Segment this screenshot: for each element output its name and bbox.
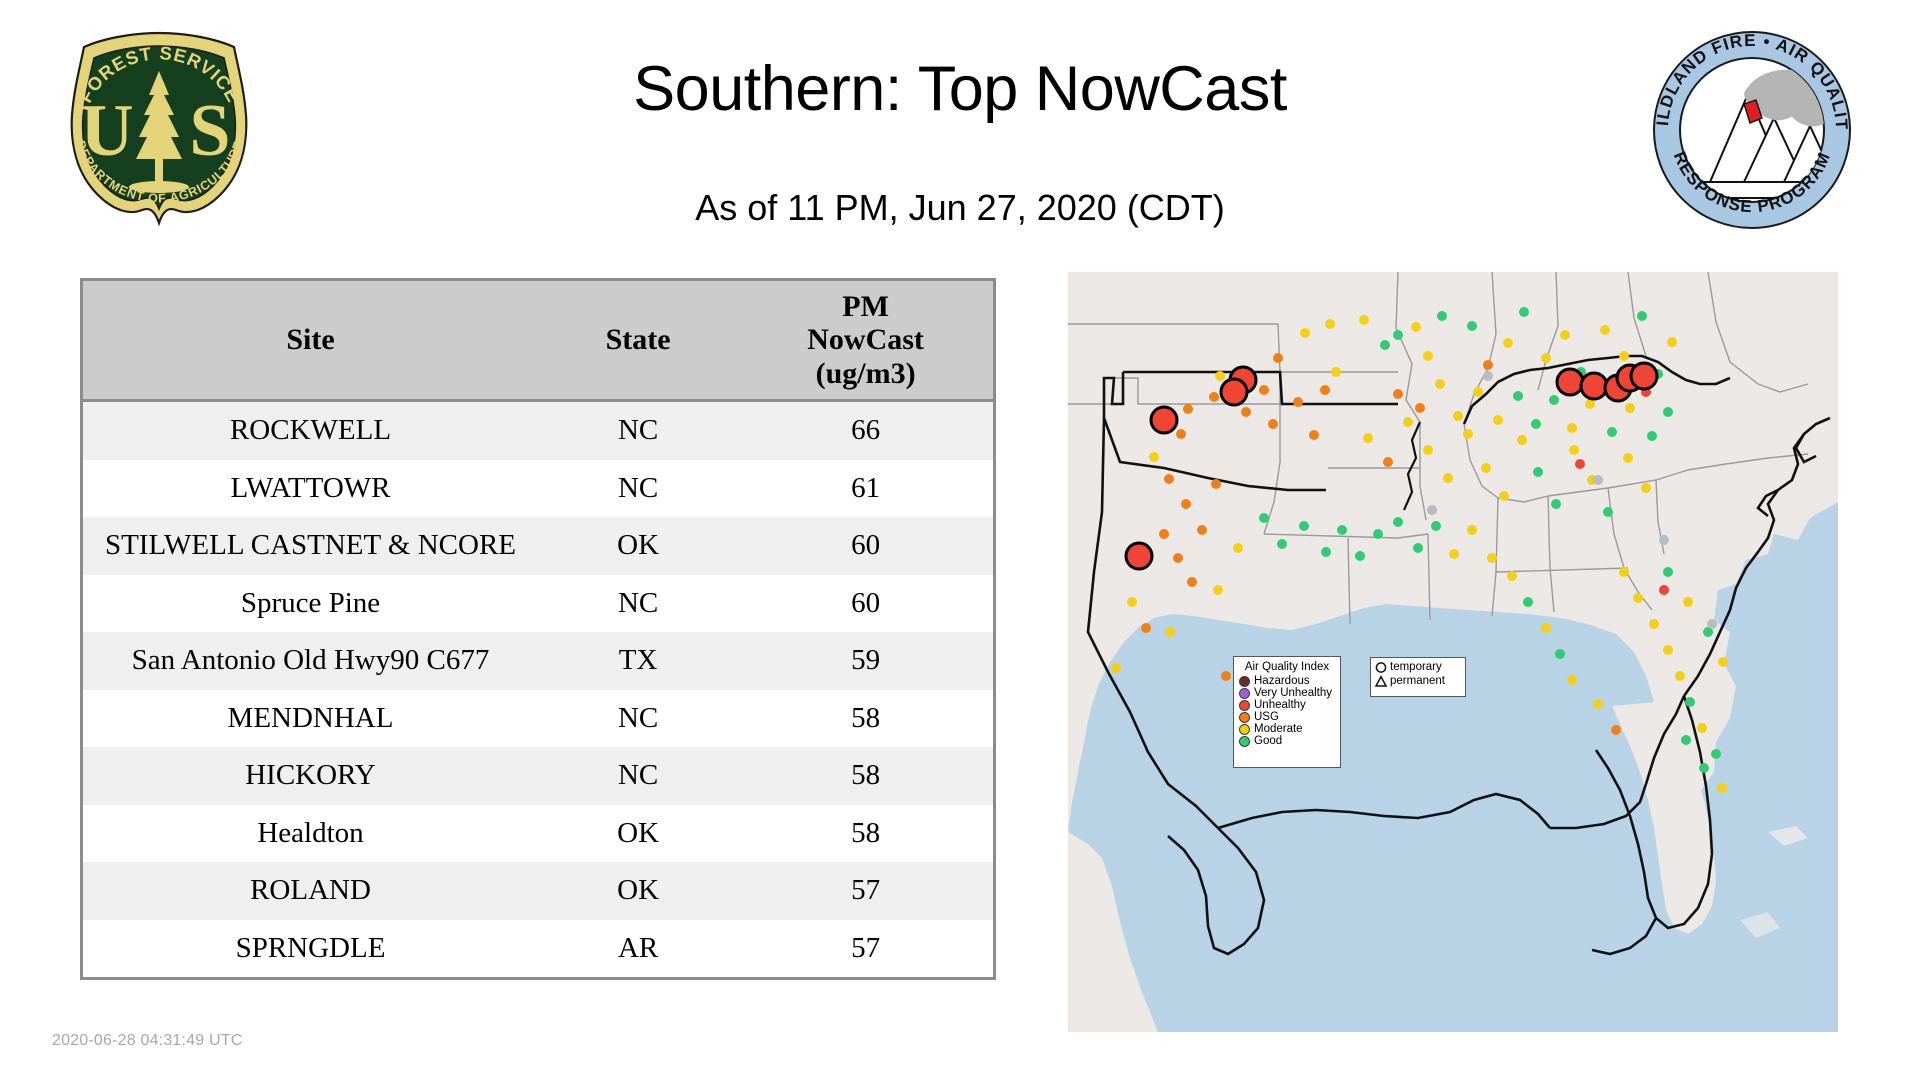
monitor-dot[interactable] bbox=[1641, 483, 1651, 493]
aqi-legend-item: USG bbox=[1239, 712, 1335, 724]
aqi-legend-item: Hazardous bbox=[1239, 676, 1335, 688]
monitor-dot[interactable] bbox=[1463, 429, 1473, 439]
monitor-dot[interactable] bbox=[1607, 427, 1617, 437]
monitor-dot[interactable] bbox=[1707, 619, 1717, 629]
site-cell: HICKORY bbox=[83, 747, 538, 805]
state-cell: OK bbox=[538, 517, 738, 575]
monitor-dot[interactable] bbox=[1403, 417, 1413, 427]
pm-header-line-1: PM bbox=[738, 290, 993, 324]
monitor-dot[interactable] bbox=[1517, 435, 1527, 445]
monitor-dot[interactable] bbox=[1355, 551, 1365, 561]
monitor-dot[interactable] bbox=[1165, 627, 1175, 637]
monitor-dot[interactable] bbox=[1373, 529, 1383, 539]
monitor-dot[interactable] bbox=[1513, 391, 1523, 401]
site-cell: STILWELL CASTNET & NCORE bbox=[83, 517, 538, 575]
monitor-dot[interactable] bbox=[1637, 311, 1647, 321]
monitor-dot[interactable] bbox=[1209, 392, 1219, 402]
monitor-dot[interactable] bbox=[1393, 330, 1403, 340]
monitor-dot[interactable] bbox=[1268, 419, 1278, 429]
site-cell: Healdton bbox=[83, 805, 538, 863]
table-row: STILWELL CASTNET & NCOREOK60 bbox=[83, 517, 993, 575]
top-site-marker[interactable] bbox=[1631, 363, 1657, 389]
monitor-dot[interactable] bbox=[1453, 411, 1463, 421]
site-cell: MENDNHAL bbox=[83, 690, 538, 748]
monitor-dot[interactable] bbox=[1423, 445, 1433, 455]
monitor-dot[interactable] bbox=[1487, 553, 1497, 563]
monitor-dot[interactable] bbox=[1359, 315, 1369, 325]
monitor-dot[interactable] bbox=[1717, 783, 1727, 793]
monitor-dot[interactable] bbox=[1413, 543, 1423, 553]
monitor-dot[interactable] bbox=[1299, 521, 1309, 531]
aqi-legend-item: Moderate bbox=[1239, 724, 1335, 736]
monitor-dot[interactable] bbox=[1173, 553, 1183, 563]
top-site-marker[interactable] bbox=[1581, 373, 1607, 399]
monitor-dot[interactable] bbox=[1393, 517, 1403, 527]
monitor-dot[interactable] bbox=[1499, 491, 1509, 501]
state-cell: TX bbox=[538, 632, 738, 690]
monitor-dot[interactable] bbox=[1383, 457, 1393, 467]
monitor-dot[interactable] bbox=[1211, 479, 1221, 489]
monitor-dot[interactable] bbox=[1325, 319, 1335, 329]
monitor-dot[interactable] bbox=[1467, 321, 1477, 331]
aqi-legend-label: Unhealthy bbox=[1254, 700, 1306, 712]
column-header-site: Site bbox=[83, 281, 538, 401]
monitor-dot[interactable] bbox=[1663, 645, 1673, 655]
state-cell: NC bbox=[538, 401, 738, 460]
monitor-dot[interactable] bbox=[1647, 431, 1657, 441]
aqi-color-swatch bbox=[1239, 736, 1250, 747]
monitor-dot[interactable] bbox=[1619, 567, 1629, 577]
monitor-dot[interactable] bbox=[1611, 725, 1621, 735]
monitor-dot[interactable] bbox=[1560, 330, 1570, 340]
state-cell: OK bbox=[538, 805, 738, 863]
aqi-color-swatch bbox=[1239, 712, 1250, 723]
monitor-dot[interactable] bbox=[1619, 351, 1629, 361]
site-cell: ROCKWELL bbox=[83, 401, 538, 460]
monitor-dot[interactable] bbox=[1663, 567, 1673, 577]
site-cell: ROLAND bbox=[83, 862, 538, 920]
monitor-dot[interactable] bbox=[1415, 403, 1425, 413]
aqi-legend-label: Good bbox=[1254, 736, 1282, 748]
monitor-dot[interactable] bbox=[1625, 403, 1635, 413]
aqi-legend-label: USG bbox=[1254, 712, 1279, 724]
monitor-dot[interactable] bbox=[1697, 723, 1707, 733]
pm-cell: 66 bbox=[738, 401, 993, 460]
monitor-dot[interactable] bbox=[1699, 763, 1709, 773]
monitor-dot[interactable] bbox=[1575, 459, 1585, 469]
monitor-dot[interactable] bbox=[1585, 399, 1595, 409]
aqi-legend: Air Quality Index HazardousVery Unhealth… bbox=[1233, 656, 1341, 768]
monitor-dot[interactable] bbox=[1321, 547, 1331, 557]
monitor-dot[interactable] bbox=[1215, 371, 1225, 381]
column-header-pm-nowcast: PM NowCast (ug/m3) bbox=[738, 281, 993, 401]
monitor-dot[interactable] bbox=[1111, 663, 1121, 673]
monitor-dot[interactable] bbox=[1541, 623, 1551, 633]
monitor-dot[interactable] bbox=[1141, 623, 1151, 633]
monitor-dot[interactable] bbox=[1293, 397, 1303, 407]
pm-cell: 58 bbox=[738, 747, 993, 805]
top-site-marker[interactable] bbox=[1151, 407, 1177, 433]
site-cell: LWATTOWR bbox=[83, 460, 538, 518]
state-cell: NC bbox=[538, 575, 738, 633]
table-row: MENDNHALNC58 bbox=[83, 690, 993, 748]
pm-cell: 58 bbox=[738, 805, 993, 863]
monitor-dot[interactable] bbox=[1483, 371, 1493, 381]
pm-cell: 61 bbox=[738, 460, 993, 518]
site-type-temporary: temporary bbox=[1375, 661, 1461, 674]
monitor-dot[interactable] bbox=[1549, 395, 1559, 405]
aqi-color-swatch bbox=[1239, 724, 1250, 735]
monitor-dot[interactable] bbox=[1164, 474, 1174, 484]
pm-header-line-2: NowCast bbox=[738, 323, 993, 357]
monitor-dot[interactable] bbox=[1600, 325, 1610, 335]
site-type-permanent-label: permanent bbox=[1390, 676, 1445, 688]
monitor-dot[interactable] bbox=[1523, 597, 1533, 607]
monitor-dot[interactable] bbox=[1531, 419, 1541, 429]
monitor-dot[interactable] bbox=[1273, 353, 1283, 363]
monitor-dot[interactable] bbox=[1623, 453, 1633, 463]
monitor-dot[interactable] bbox=[1300, 328, 1310, 338]
triangle-icon bbox=[1375, 675, 1387, 688]
monitor-dot[interactable] bbox=[1685, 697, 1695, 707]
top-site-marker[interactable] bbox=[1221, 379, 1247, 405]
monitor-dot[interactable] bbox=[1363, 433, 1373, 443]
pm-cell: 58 bbox=[738, 690, 993, 748]
monitor-dot[interactable] bbox=[1393, 389, 1403, 399]
monitor-dot[interactable] bbox=[1675, 671, 1685, 681]
monitor-dot[interactable] bbox=[1320, 385, 1330, 395]
monitor-dot[interactable] bbox=[1443, 473, 1453, 483]
monitor-dot[interactable] bbox=[1649, 619, 1659, 629]
monitor-dot[interactable] bbox=[1718, 657, 1728, 667]
monitor-dot[interactable] bbox=[1437, 311, 1447, 321]
table-row: Spruce PineNC60 bbox=[83, 575, 993, 633]
monitor-dot[interactable] bbox=[1593, 475, 1603, 485]
aqi-color-swatch bbox=[1239, 688, 1250, 699]
monitor-dot[interactable] bbox=[1241, 407, 1251, 417]
monitor-dot[interactable] bbox=[1183, 404, 1193, 414]
pm-cell: 57 bbox=[738, 920, 993, 978]
monitor-dot[interactable] bbox=[1519, 307, 1529, 317]
monitor-dot[interactable] bbox=[1380, 340, 1390, 350]
monitor-dot[interactable] bbox=[1423, 351, 1433, 361]
monitor-dot[interactable] bbox=[1711, 749, 1721, 759]
monitor-dot[interactable] bbox=[1493, 415, 1503, 425]
monitor-dot[interactable] bbox=[1567, 675, 1577, 685]
air-quality-map[interactable]: Air Quality Index HazardousVery Unhealth… bbox=[1068, 272, 1838, 1032]
site-cell: SPRNGDLE bbox=[83, 920, 538, 978]
table-row: HealdtonOK58 bbox=[83, 805, 993, 863]
page-title: Southern: Top NowCast bbox=[0, 58, 1920, 121]
monitor-dot[interactable] bbox=[1551, 499, 1561, 509]
monitor-dot[interactable] bbox=[1467, 525, 1477, 535]
monitor-dot[interactable] bbox=[1683, 597, 1693, 607]
monitor-dot[interactable] bbox=[1593, 699, 1603, 709]
monitor-dot[interactable] bbox=[1213, 585, 1223, 595]
table-row: ROCKWELLNC66 bbox=[83, 401, 993, 460]
top-site-marker[interactable] bbox=[1126, 543, 1152, 569]
monitor-dot[interactable] bbox=[1431, 521, 1441, 531]
monitor-dot[interactable] bbox=[1159, 529, 1169, 539]
monitor-dot[interactable] bbox=[1176, 429, 1186, 439]
state-cell: NC bbox=[538, 747, 738, 805]
aqi-legend-item: Very Unhealthy bbox=[1239, 688, 1335, 700]
site-cell: San Antonio Old Hwy90 C677 bbox=[83, 632, 538, 690]
pm-cell: 60 bbox=[738, 517, 993, 575]
aqi-color-swatch bbox=[1239, 700, 1250, 711]
monitor-dot[interactable] bbox=[1411, 322, 1421, 332]
monitor-dot[interactable] bbox=[1127, 597, 1137, 607]
footer-timestamp: 2020-06-28 04:31:49 UTC bbox=[52, 1032, 243, 1050]
site-cell: Spruce Pine bbox=[83, 575, 538, 633]
monitor-dot[interactable] bbox=[1259, 513, 1269, 523]
monitor-dot[interactable] bbox=[1569, 445, 1579, 455]
monitor-dot[interactable] bbox=[1187, 577, 1197, 587]
pm-cell: 57 bbox=[738, 862, 993, 920]
column-header-state: State bbox=[538, 281, 738, 401]
table-row: LWATTOWRNC61 bbox=[83, 460, 993, 518]
monitor-dot[interactable] bbox=[1659, 535, 1669, 545]
monitor-dot[interactable] bbox=[1331, 367, 1341, 377]
monitor-dot[interactable] bbox=[1435, 379, 1445, 389]
monitor-dot[interactable] bbox=[1427, 505, 1437, 515]
monitor-dot[interactable] bbox=[1555, 649, 1565, 659]
monitor-dot[interactable] bbox=[1567, 423, 1577, 433]
state-cell: OK bbox=[538, 862, 738, 920]
monitor-dot[interactable] bbox=[1449, 549, 1459, 559]
monitor-dot[interactable] bbox=[1259, 385, 1269, 395]
pm-cell: 59 bbox=[738, 632, 993, 690]
table-row: HICKORYNC58 bbox=[83, 747, 993, 805]
monitor-dot[interactable] bbox=[1197, 525, 1207, 535]
aqi-legend-label: Very Unhealthy bbox=[1254, 688, 1332, 700]
aqi-legend-item: Good bbox=[1239, 736, 1335, 748]
pm-header-line-3: (ug/m3) bbox=[738, 357, 993, 391]
state-cell: NC bbox=[538, 460, 738, 518]
monitor-dot[interactable] bbox=[1603, 507, 1613, 517]
monitor-dot[interactable] bbox=[1221, 671, 1231, 681]
monitor-dot[interactable] bbox=[1277, 539, 1287, 549]
top-site-marker[interactable] bbox=[1557, 369, 1583, 395]
site-type-temporary-label: temporary bbox=[1390, 662, 1442, 674]
monitor-dot[interactable] bbox=[1149, 452, 1159, 462]
monitor-dot[interactable] bbox=[1541, 353, 1551, 363]
aqi-legend-label: Moderate bbox=[1254, 724, 1303, 736]
page-subtitle: As of 11 PM, Jun 27, 2020 (CDT) bbox=[0, 190, 1920, 226]
circle-icon bbox=[1375, 661, 1387, 674]
table-row: SPRNGDLEAR57 bbox=[83, 920, 993, 978]
table-row: ROLANDOK57 bbox=[83, 862, 993, 920]
monitor-dot[interactable] bbox=[1533, 467, 1543, 477]
monitor-dot[interactable] bbox=[1337, 525, 1347, 535]
pm-cell: 60 bbox=[738, 575, 993, 633]
table-row: San Antonio Old Hwy90 C677TX59 bbox=[83, 632, 993, 690]
monitor-dot[interactable] bbox=[1659, 585, 1669, 595]
monitor-dot[interactable] bbox=[1663, 407, 1673, 417]
aqi-color-swatch bbox=[1239, 676, 1250, 687]
aqi-legend-label: Hazardous bbox=[1254, 676, 1310, 688]
table-header-row: Site State PM NowCast (ug/m3) bbox=[83, 281, 993, 401]
monitor-dot[interactable] bbox=[1507, 571, 1517, 581]
monitor-dot[interactable] bbox=[1667, 337, 1677, 347]
monitor-dot[interactable] bbox=[1481, 463, 1491, 473]
monitor-dot[interactable] bbox=[1633, 593, 1643, 603]
monitor-dot[interactable] bbox=[1233, 543, 1243, 553]
monitor-dot[interactable] bbox=[1503, 338, 1513, 348]
monitor-dot[interactable] bbox=[1181, 499, 1191, 509]
nowcast-table: Site State PM NowCast (ug/m3) ROCKWELLNC… bbox=[80, 278, 996, 980]
monitor-dot[interactable] bbox=[1681, 735, 1691, 745]
monitor-dot[interactable] bbox=[1309, 430, 1319, 440]
aqi-legend-item: Unhealthy bbox=[1239, 700, 1335, 712]
monitor-dot[interactable] bbox=[1483, 360, 1493, 370]
site-type-legend: temporary permanent bbox=[1370, 657, 1466, 697]
monitor-dot[interactable] bbox=[1473, 387, 1483, 397]
state-cell: NC bbox=[538, 690, 738, 748]
aqi-legend-title: Air Quality Index bbox=[1239, 661, 1335, 674]
state-cell: AR bbox=[538, 920, 738, 978]
site-type-permanent: permanent bbox=[1375, 675, 1461, 688]
